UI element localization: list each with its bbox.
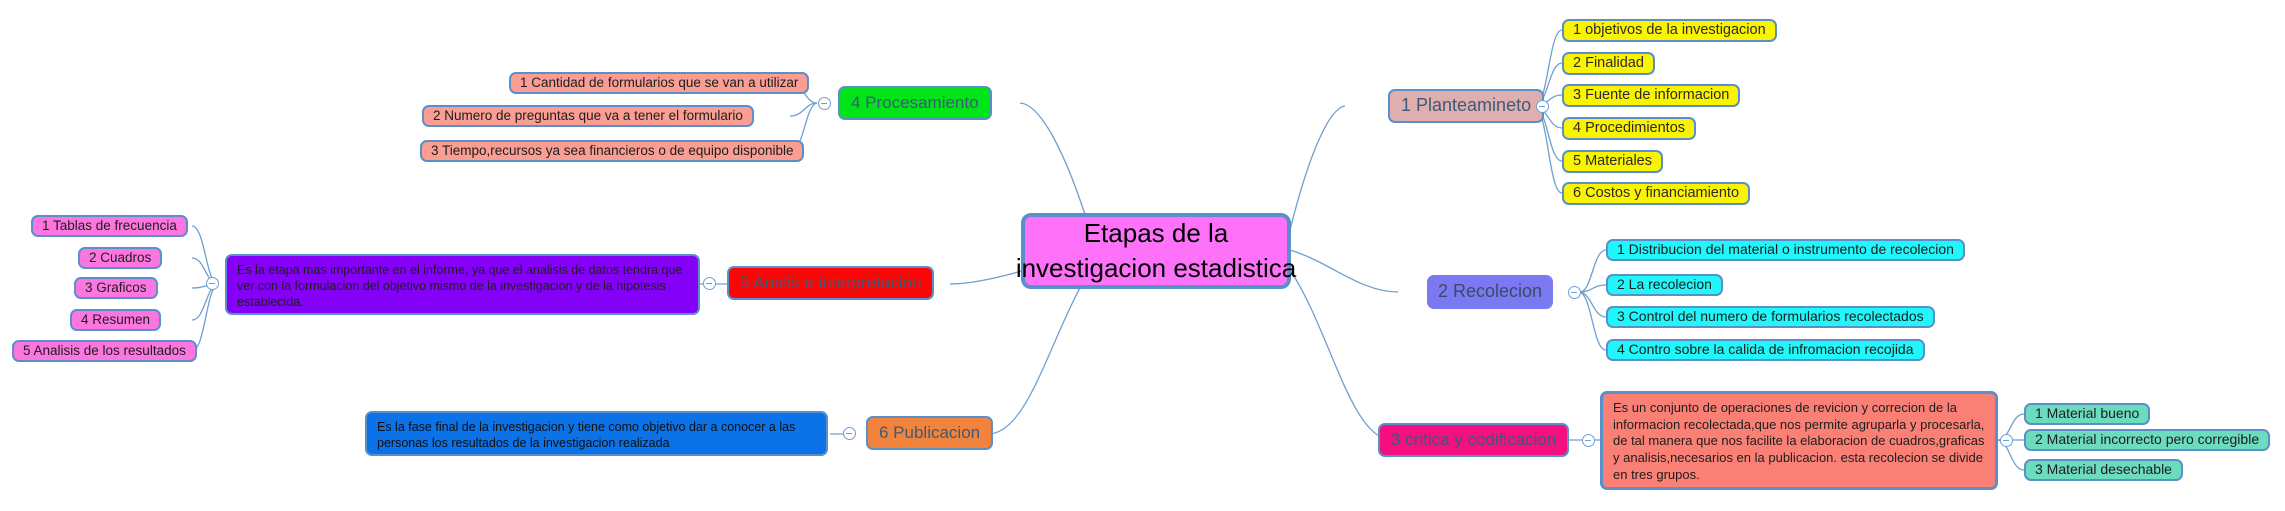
branch-publicacion-label: 6 Publicacion [879, 422, 980, 444]
critica-description-text: Es un conjunto de operaciones de revicio… [1613, 400, 1985, 483]
analisis-description-box[interactable]: Es la etapa mas importante en el informe… [225, 254, 700, 315]
leaf-planteamiento-3[interactable]: 3 Fuente de informacion [1562, 84, 1740, 107]
leaf-analisis-2[interactable]: 2 Cuadros [78, 247, 162, 269]
branch-procesamiento[interactable]: 4 Procesamiento [838, 86, 992, 120]
branch-critica-label: 3 critica y codificacion [1391, 429, 1556, 451]
publicacion-description-box[interactable]: Es la fase final de la investigacion y t… [365, 411, 828, 456]
leaf-planteamiento-2[interactable]: 2 Finalidad [1562, 52, 1655, 75]
leaf-planteamiento-1[interactable]: 1 objetivos de la investigacion [1562, 19, 1777, 42]
leaf-label: 2 La recolecion [1617, 276, 1712, 294]
branch-recoleccion-label: 2 Recolecion [1438, 280, 1542, 303]
leaf-label: 1 Distribucion del material o instrument… [1617, 241, 1954, 259]
collapse-toggle-planteamiento[interactable] [1536, 100, 1549, 113]
leaf-label: 4 Resumen [81, 311, 150, 328]
leaf-analisis-4[interactable]: 4 Resumen [70, 309, 161, 331]
leaf-label: 3 Control del numero de formularios reco… [1617, 308, 1924, 326]
leaf-label: 5 Materiales [1573, 152, 1652, 171]
critica-description-box[interactable]: Es un conjunto de operaciones de revicio… [1600, 391, 1998, 490]
branch-publicacion[interactable]: 6 Publicacion [866, 416, 993, 450]
collapse-toggle-analisis-children[interactable] [206, 277, 219, 290]
root-node[interactable]: Etapas de la investigacion estadistica [1021, 213, 1291, 289]
collapse-toggle-critica-children[interactable] [2000, 434, 2013, 447]
leaf-analisis-1[interactable]: 1 Tablas de frecuencia [31, 215, 188, 237]
leaf-label: 2 Finalidad [1573, 54, 1644, 73]
collapse-toggle-publicacion[interactable] [843, 427, 856, 440]
branch-critica[interactable]: 3 critica y codificacion [1378, 423, 1569, 457]
leaf-critica-2[interactable]: 2 Material incorrecto pero corregible [2024, 429, 2270, 451]
publicacion-description-text: Es la fase final de la investigacion y t… [377, 419, 816, 451]
leaf-analisis-3[interactable]: 3 Graficos [74, 277, 158, 299]
leaf-recoleccion-2[interactable]: 2 La recolecion [1606, 274, 1723, 296]
collapse-toggle-analisis[interactable] [703, 277, 716, 290]
leaf-planteamiento-5[interactable]: 5 Materiales [1562, 150, 1663, 173]
leaf-planteamiento-6[interactable]: 6 Costos y financiamiento [1562, 182, 1750, 205]
leaf-critica-3[interactable]: 3 Material desechable [2024, 459, 2183, 481]
leaf-label: 5 Analisis de los resultados [23, 342, 186, 359]
leaf-recoleccion-1[interactable]: 1 Distribucion del material o instrument… [1606, 239, 1965, 261]
leaf-critica-1[interactable]: 1 Material bueno [2024, 403, 2150, 425]
analisis-description-text: Es la etapa mas importante en el informe… [237, 262, 688, 310]
branch-analisis[interactable]: 5 Analis e interpretacion [727, 266, 934, 300]
collapse-toggle-recoleccion[interactable] [1568, 286, 1581, 299]
leaf-recoleccion-4[interactable]: 4 Contro sobre la calida de infromacion … [1606, 339, 1925, 361]
branch-analisis-label: 5 Analis e interpretacion [740, 272, 921, 294]
collapse-toggle-critica[interactable] [1582, 434, 1595, 447]
leaf-label: 3 Tiempo,recursos ya sea financieros o d… [431, 142, 793, 159]
leaf-procesamiento-3[interactable]: 3 Tiempo,recursos ya sea financieros o d… [420, 140, 804, 162]
leaf-recoleccion-3[interactable]: 3 Control del numero de formularios reco… [1606, 306, 1935, 328]
branch-planteamiento[interactable]: 1 Planteamineto [1388, 89, 1544, 123]
branch-recoleccion[interactable]: 2 Recolecion [1427, 275, 1553, 309]
leaf-label: 1 Cantidad de formularios que se van a u… [520, 74, 798, 91]
leaf-label: 6 Costos y financiamiento [1573, 184, 1739, 203]
leaf-procesamiento-1[interactable]: 1 Cantidad de formularios que se van a u… [509, 72, 809, 94]
leaf-procesamiento-2[interactable]: 2 Numero de preguntas que va a tener el … [422, 105, 754, 127]
leaf-planteamiento-4[interactable]: 4 Procedimientos [1562, 117, 1696, 140]
leaf-label: 2 Cuadros [89, 249, 151, 266]
root-title-line1: Etapas de la [1084, 218, 1229, 248]
leaf-analisis-5[interactable]: 5 Analisis de los resultados [12, 340, 197, 362]
leaf-label: 3 Fuente de informacion [1573, 86, 1729, 105]
leaf-label: 1 Tablas de frecuencia [42, 217, 177, 234]
leaf-label: 3 Graficos [85, 279, 147, 296]
leaf-label: 4 Procedimientos [1573, 119, 1685, 138]
root-title-line2: investigacion estadistica [1016, 253, 1296, 283]
branch-planteamiento-label: 1 Planteamineto [1401, 94, 1531, 117]
leaf-label: 3 Material desechable [2035, 461, 2172, 479]
leaf-label: 2 Material incorrecto pero corregible [2035, 431, 2259, 449]
mindmap-canvas: Etapas de la investigacion estadistica 1… [0, 0, 2285, 511]
leaf-label: 1 objetivos de la investigacion [1573, 21, 1766, 40]
branch-procesamiento-label: 4 Procesamiento [851, 92, 979, 114]
leaf-label: 4 Contro sobre la calida de infromacion … [1617, 341, 1914, 359]
leaf-label: 2 Numero de preguntas que va a tener el … [433, 107, 743, 124]
leaf-label: 1 Material bueno [2035, 405, 2139, 423]
collapse-toggle-procesamiento[interactable] [818, 97, 831, 110]
